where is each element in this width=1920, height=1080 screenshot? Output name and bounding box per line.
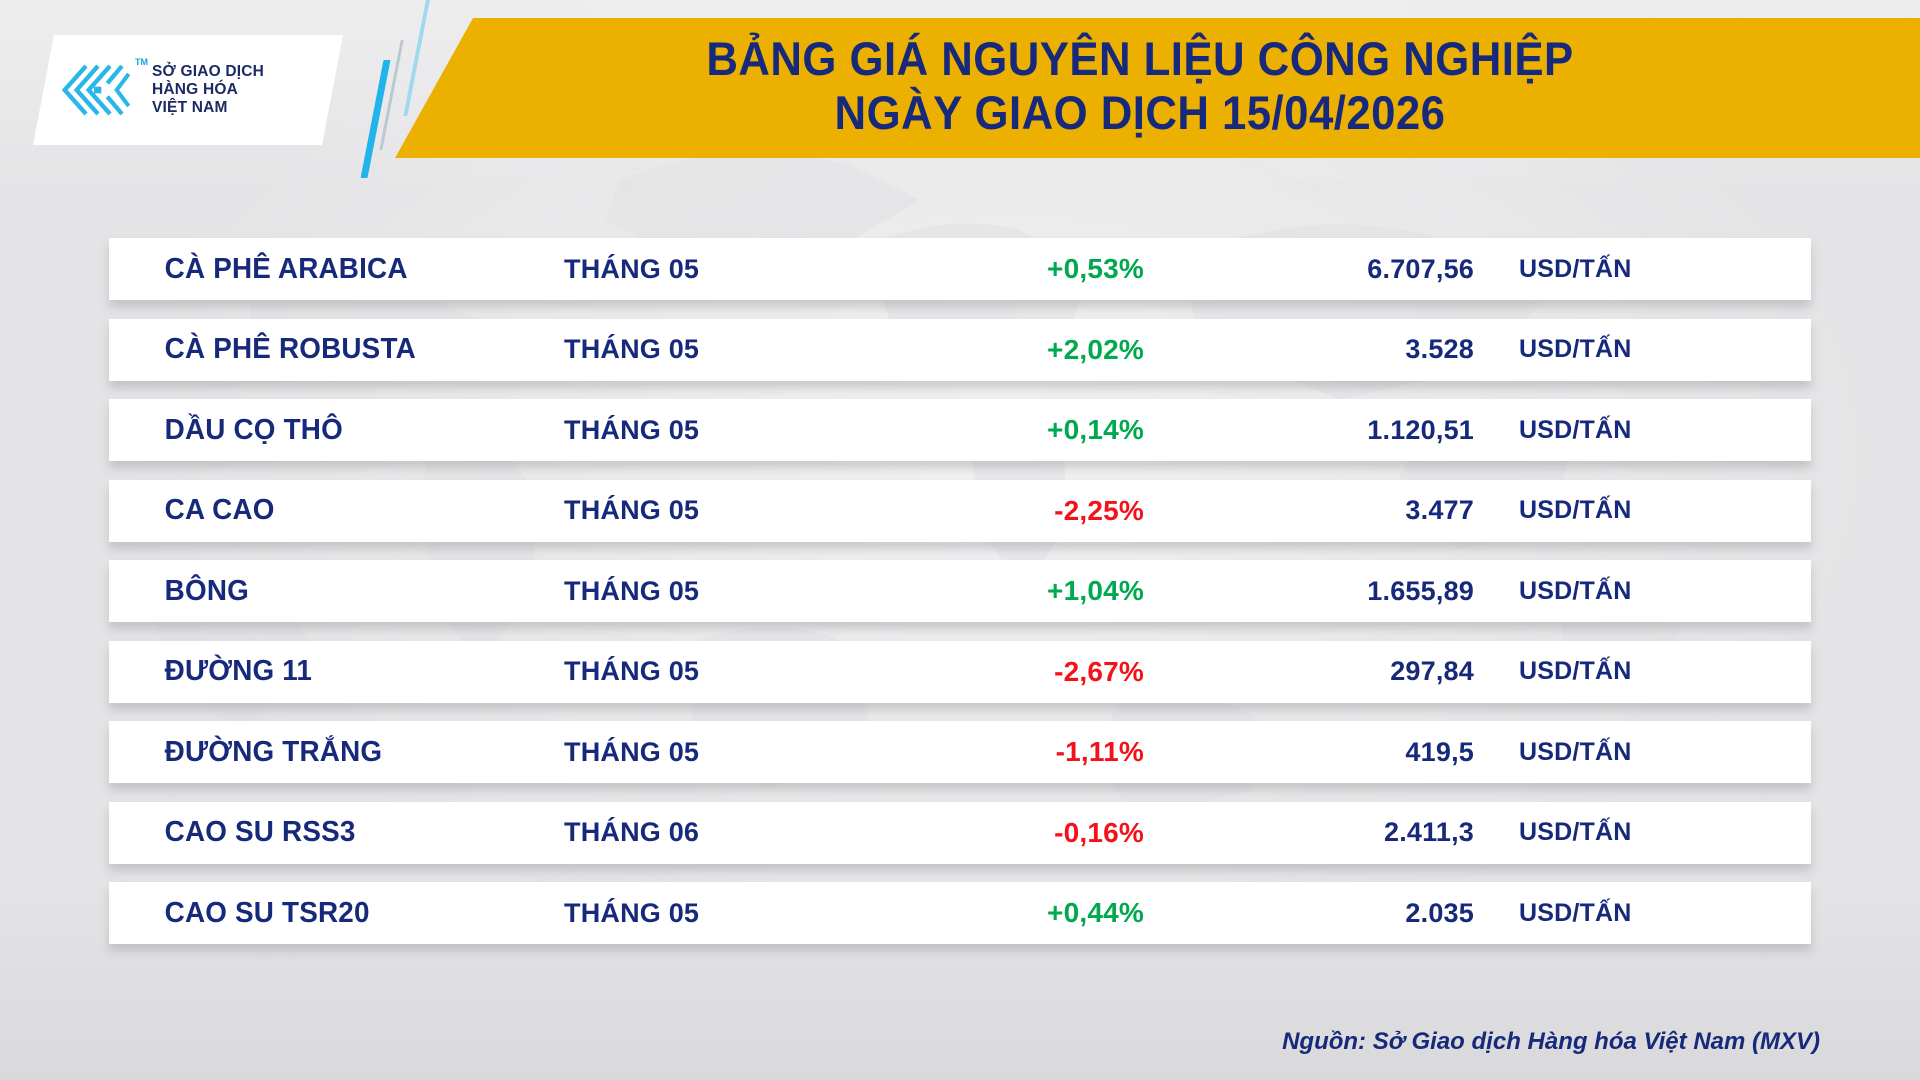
commodity-name: CÀ PHÊ ARABICA [109,253,546,286]
percent-change: +1,04% [854,575,1144,607]
commodity-name: CAO SU RSS3 [109,816,546,849]
price-unit: USD/TẤN [1474,818,1734,847]
contract-month: THÁNG 05 [564,415,854,446]
table-row[interactable]: BÔNGTHÁNG 05+1,04%1.655,89USD/TẤN [109,560,1811,622]
price-value: 3.528 [1144,334,1474,365]
contract-month: THÁNG 05 [564,898,854,929]
logo-line-2: HÀNG HÓA [152,81,264,99]
commodity-name: ĐƯỜNG TRẮNG [109,736,546,769]
mxv-logo-icon [59,62,133,118]
commodity-name: ĐƯỜNG 11 [109,655,546,688]
contract-month: THÁNG 05 [564,334,854,365]
price-unit: USD/TẤN [1474,416,1734,445]
price-value: 2.411,3 [1144,817,1474,848]
commodity-price-table: CÀ PHÊ ARABICATHÁNG 05+0,53%6.707,56USD/… [0,238,1920,963]
percent-change: +0,14% [854,414,1144,446]
percent-change: +0,44% [854,897,1144,929]
logo: TM SỞ GIAO DỊCH HÀNG HÓA VIỆT NAM [33,35,343,145]
logo-wordmark: SỞ GIAO DỊCH HÀNG HÓA VIỆT NAM [152,63,264,118]
contract-month: THÁNG 05 [564,254,854,285]
table-row[interactable]: CÀ PHÊ ROBUSTATHÁNG 05+2,02%3.528USD/TẤN [109,319,1811,381]
table-row[interactable]: CAO SU RSS3THÁNG 06-0,16%2.411,3USD/TẤN [109,802,1811,864]
table-row[interactable]: CÀ PHÊ ARABICATHÁNG 05+0,53%6.707,56USD/… [109,238,1811,300]
contract-month: THÁNG 06 [564,817,854,848]
commodity-name: CA CAO [109,494,546,527]
page-title: BẢNG GIÁ NGUYÊN LIỆU CÔNG NGHIỆP NGÀY GI… [430,24,1850,140]
table-row[interactable]: ĐƯỜNG 11THÁNG 05-2,67%297,84USD/TẤN [109,641,1811,703]
percent-change: -2,25% [854,495,1144,527]
table-row[interactable]: CA CAOTHÁNG 05-2,25%3.477USD/TẤN [109,480,1811,542]
price-unit: USD/TẤN [1474,255,1734,284]
percent-change: -1,11% [854,736,1144,768]
price-value: 6.707,56 [1144,254,1474,285]
commodity-name: BÔNG [109,575,546,608]
accent-stripe-light-cyan [403,0,430,116]
price-unit: USD/TẤN [1474,496,1734,525]
contract-month: THÁNG 05 [564,495,854,526]
price-value: 297,84 [1144,656,1474,687]
header: TM SỞ GIAO DỊCH HÀNG HÓA VIỆT NAM BẢNG G… [0,0,1920,175]
commodity-name: CÀ PHÊ ROBUSTA [109,333,546,366]
commodity-name: DẦU CỌ THÔ [109,414,546,447]
title-line-1: BẢNG GIÁ NGUYÊN LIỆU CÔNG NGHIỆP [480,24,1801,86]
price-unit: USD/TẤN [1474,657,1734,686]
contract-month: THÁNG 05 [564,576,854,607]
price-value: 1.655,89 [1144,576,1474,607]
percent-change: +0,53% [854,253,1144,285]
table-row[interactable]: DẦU CỌ THÔTHÁNG 05+0,14%1.120,51USD/TẤN [109,399,1811,461]
logo-line-1: SỞ GIAO DỊCH [152,63,264,81]
table-row[interactable]: ĐƯỜNG TRẮNGTHÁNG 05-1,11%419,5USD/TẤN [109,721,1811,783]
price-unit: USD/TẤN [1474,335,1734,364]
title-line-2: NGÀY GIAO DỊCH 15/04/2026 [480,86,1801,140]
contract-month: THÁNG 05 [564,737,854,768]
price-unit: USD/TẤN [1474,738,1734,767]
percent-change: +2,02% [854,334,1144,366]
table-row[interactable]: CAO SU TSR20THÁNG 05+0,44%2.035USD/TẤN [109,882,1811,944]
contract-month: THÁNG 05 [564,656,854,687]
price-unit: USD/TẤN [1474,577,1734,606]
price-unit: USD/TẤN [1474,899,1734,928]
price-value: 2.035 [1144,898,1474,929]
percent-change: -2,67% [854,656,1144,688]
trademark-mark: TM [135,57,148,67]
logo-line-3: VIỆT NAM [152,99,264,117]
price-value: 419,5 [1144,737,1474,768]
price-value: 1.120,51 [1144,415,1474,446]
percent-change: -0,16% [854,817,1144,849]
commodity-name: CAO SU TSR20 [109,897,546,930]
price-value: 3.477 [1144,495,1474,526]
price-board-page: TM SỞ GIAO DỊCH HÀNG HÓA VIỆT NAM BẢNG G… [0,0,1920,1080]
source-note: Nguồn: Sở Giao dịch Hàng hóa Việt Nam (M… [1282,1028,1820,1056]
